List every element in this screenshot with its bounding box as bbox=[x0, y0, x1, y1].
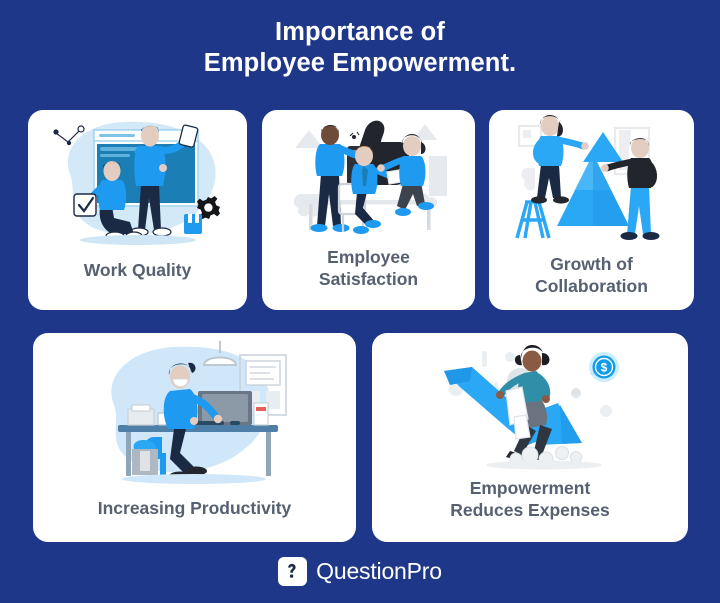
card-growth-collaboration-label: Growth of Collaboration bbox=[489, 253, 694, 297]
illustration-increasing-productivity bbox=[33, 333, 356, 488]
card-label-line: Employee bbox=[268, 246, 469, 268]
card-label-line: Empowerment bbox=[378, 477, 682, 499]
infographic-canvas: Importance of Employee Empowerment. bbox=[0, 0, 720, 603]
card-label-line: Satisfaction bbox=[268, 268, 469, 290]
card-label-line: Growth of bbox=[495, 253, 688, 275]
card-empowerment-expenses-label: Empowerment Reduces Expenses bbox=[372, 477, 688, 521]
card-empowerment-expenses[interactable]: $ bbox=[372, 333, 688, 542]
page-title-line-1: Importance of bbox=[0, 17, 720, 48]
brand-name: QuestionPro bbox=[316, 560, 442, 583]
card-growth-collaboration[interactable]: Growth of Collaboration bbox=[489, 110, 694, 310]
card-label-line: Increasing Productivity bbox=[39, 497, 350, 519]
card-employee-satisfaction[interactable]: Employee Satisfaction bbox=[262, 110, 475, 310]
card-work-quality[interactable]: Work Quality bbox=[28, 110, 247, 310]
page-title-line-2: Employee Empowerment. bbox=[0, 48, 720, 79]
svg-text:$: $ bbox=[601, 361, 608, 375]
page-title: Importance of Employee Empowerment. bbox=[0, 17, 720, 79]
illustration-empowerment-expenses: $ bbox=[372, 333, 688, 473]
card-employee-satisfaction-label: Employee Satisfaction bbox=[262, 246, 475, 290]
card-label-line: Collaboration bbox=[495, 275, 688, 297]
question-mark-square-icon bbox=[278, 557, 307, 586]
card-increasing-productivity-label: Increasing Productivity bbox=[33, 497, 356, 519]
card-label-line: Reduces Expenses bbox=[378, 499, 682, 521]
card-work-quality-label: Work Quality bbox=[28, 259, 247, 281]
illustration-employee-satisfaction bbox=[262, 110, 475, 243]
card-increasing-productivity[interactable]: Increasing Productivity bbox=[33, 333, 356, 542]
footer-brand: QuestionPro bbox=[0, 554, 720, 588]
card-label-line: Work Quality bbox=[34, 259, 241, 281]
illustration-growth-collaboration bbox=[489, 110, 694, 247]
illustration-work-quality bbox=[28, 110, 247, 252]
